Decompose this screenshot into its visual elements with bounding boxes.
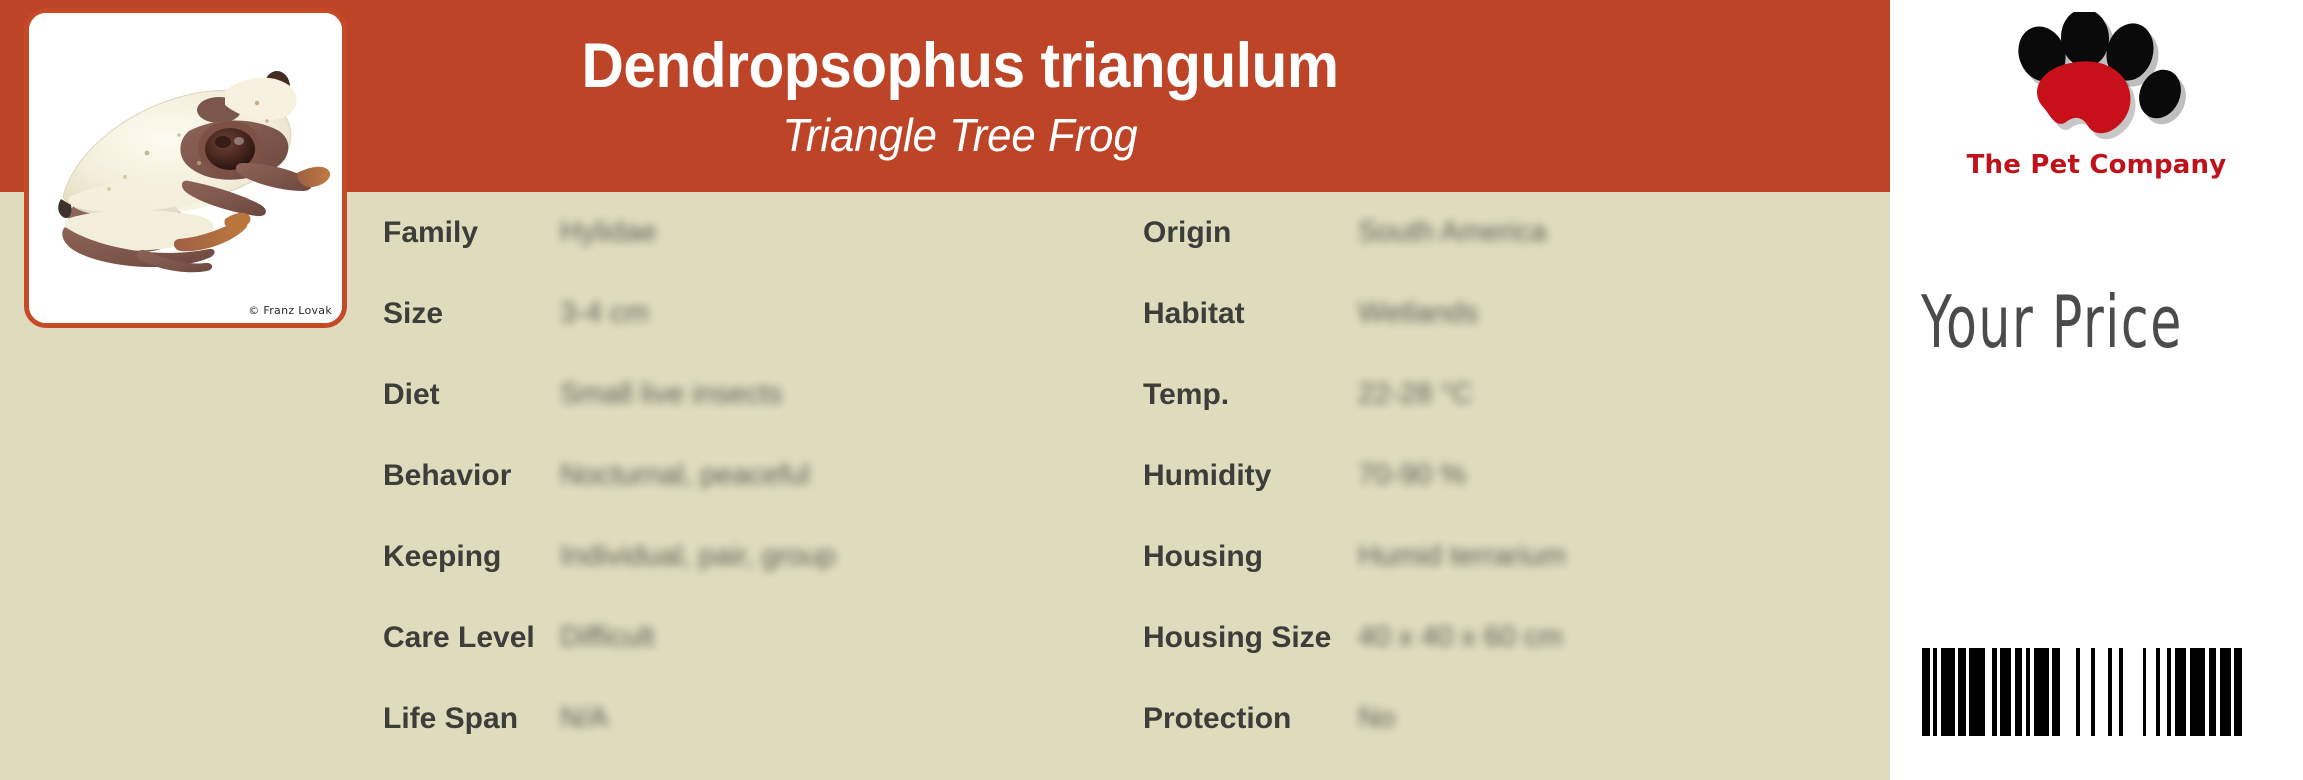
- spec-label: Habitat: [1143, 297, 1358, 331]
- spec-label: Family: [383, 216, 560, 250]
- price-panel: The Pet Company Your Price: [1890, 0, 2303, 780]
- spec-value: South America: [1358, 216, 1547, 249]
- spec-row: Life Span N/A: [383, 678, 1143, 759]
- spec-value: Small live insects: [560, 378, 782, 411]
- spec-row: Housing Size 40 x 40 x 60 cm: [1143, 597, 1883, 678]
- spec-row: Diet Small live insects: [383, 354, 1143, 435]
- spec-row: Protection No: [1143, 678, 1883, 759]
- spec-value: 22-28 °C: [1358, 378, 1473, 411]
- barcode-bar: [2209, 648, 2217, 736]
- spec-value: No: [1358, 702, 1395, 735]
- spec-value: Humid terrarium: [1358, 540, 1566, 573]
- spec-value: 3-4 cm: [560, 297, 649, 330]
- species-info-card: Dendropsophus triangulum Triangle Tree F…: [0, 0, 1890, 780]
- barcode-bar: [2095, 648, 2109, 736]
- brand-name: The Pet Company: [1890, 150, 2303, 180]
- spec-label: Care Level: [383, 621, 560, 655]
- spec-row: Habitat Wetlands: [1143, 273, 1883, 354]
- tree-frog-illustration: [29, 13, 342, 323]
- spec-row: Keeping Individual, pair, group: [383, 516, 1143, 597]
- barcode-bar: [2160, 648, 2168, 736]
- price-label: Your Price: [1921, 280, 2183, 364]
- barcode-bar: [2175, 648, 2186, 736]
- photo-credit: © Franz Lovak: [248, 304, 332, 317]
- barcode-bar: [2015, 648, 2023, 736]
- spec-value: 40 x 40 x 60 cm: [1358, 621, 1563, 654]
- spec-label: Housing: [1143, 540, 1358, 574]
- species-photo: [29, 13, 342, 323]
- spec-label: Housing Size: [1143, 621, 1358, 655]
- spec-row: Size 3-4 cm: [383, 273, 1143, 354]
- spec-label: Origin: [1143, 216, 1358, 250]
- title-block: Dendropsophus triangulum Triangle Tree F…: [320, 0, 1600, 192]
- spec-value: Nocturnal, peaceful: [560, 459, 810, 492]
- spec-value: Wetlands: [1358, 297, 1478, 330]
- spec-column-left: Family Hylidae Size 3-4 cm Diet Small li…: [383, 192, 1143, 780]
- spec-row: Family Hylidae: [383, 192, 1143, 273]
- barcode-bar: [1969, 648, 1984, 736]
- barcode-bar: [2234, 648, 2242, 736]
- spec-column-right: Origin South America Habitat Wetlands Te…: [1143, 192, 1883, 780]
- spec-row: Humidity 70-90 %: [1143, 435, 1883, 516]
- spec-label: Life Span: [383, 702, 560, 736]
- barcode-bar: [1941, 648, 1955, 736]
- common-name: Triangle Tree Frog: [782, 112, 1137, 158]
- barcode-bar: [2220, 648, 2231, 736]
- barcode-bar: [1922, 648, 1930, 736]
- spec-value: N/A: [560, 702, 608, 735]
- barcode-bar: [2112, 648, 2120, 736]
- company-logo: The Pet Company: [1890, 8, 2303, 198]
- scientific-name: Dendropsophus triangulum: [581, 35, 1338, 98]
- spec-row: Care Level Difficult: [383, 597, 1143, 678]
- barcode-bar: [2034, 648, 2049, 736]
- spec-label: Temp.: [1143, 378, 1358, 412]
- barcode-bar: [2190, 648, 2205, 736]
- barcode-bar: [2000, 648, 2011, 736]
- spec-label: Protection: [1143, 702, 1358, 736]
- spec-value: Individual, pair, group: [560, 540, 836, 573]
- spec-row: Housing Humid terrarium: [1143, 516, 1883, 597]
- spec-label: Keeping: [383, 540, 560, 574]
- barcode-bar: [2052, 648, 2060, 736]
- spec-label: Size: [383, 297, 560, 331]
- spec-label: Behavior: [383, 459, 560, 493]
- spec-value: Difficult: [560, 621, 655, 654]
- barcode: [1922, 648, 2242, 736]
- paw-print-icon: [2008, 12, 2188, 140]
- spec-value: Hylidae: [560, 216, 657, 249]
- barcode-bar: [2146, 648, 2156, 736]
- spec-value: 70-90 %: [1358, 459, 1466, 492]
- barcode-bar: [2123, 648, 2143, 736]
- spec-row: Origin South America: [1143, 192, 1883, 273]
- barcode-bar: [2080, 648, 2091, 736]
- spec-label: Diet: [383, 378, 560, 412]
- spec-row: Behavior Nocturnal, peaceful: [383, 435, 1143, 516]
- species-photo-frame: © Franz Lovak: [24, 8, 347, 328]
- spec-row: Temp. 22-28 °C: [1143, 354, 1883, 435]
- spec-label: Humidity: [1143, 459, 1358, 493]
- barcode-bar: [2060, 648, 2075, 736]
- barcode-bar: [1958, 648, 1966, 736]
- barcode-bar: [1985, 648, 1993, 736]
